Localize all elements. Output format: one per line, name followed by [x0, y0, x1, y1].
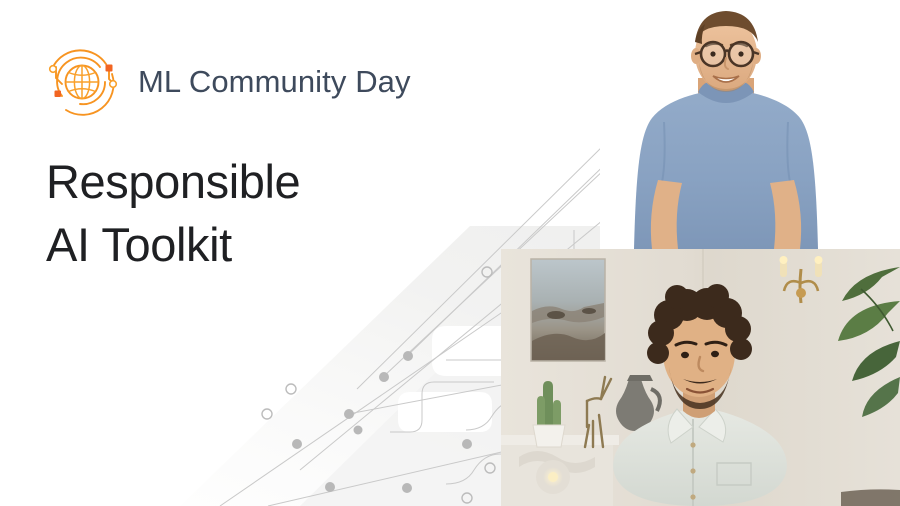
webcam-video-frame: [501, 249, 900, 506]
page-title: Responsible AI Toolkit: [46, 150, 476, 276]
page-title-line-1: Responsible: [46, 150, 476, 213]
globe-orbit-logo: [40, 44, 124, 120]
presenter-cutout-top-right: [600, 0, 900, 249]
brand-lockup: ML Community Day: [40, 44, 411, 120]
brand-name: ML Community Day: [138, 64, 411, 100]
wall-painting: [531, 259, 605, 361]
webcam-video-bottom-right[interactable]: [501, 249, 900, 506]
page-title-line-2: AI Toolkit: [46, 213, 476, 276]
presentation-slide: ML Community Day Responsible AI Toolkit: [0, 0, 900, 506]
circuit-nodes: [262, 267, 495, 503]
presenter-photo-blue-shirt: [600, 0, 900, 249]
globe-icon: [66, 66, 99, 99]
